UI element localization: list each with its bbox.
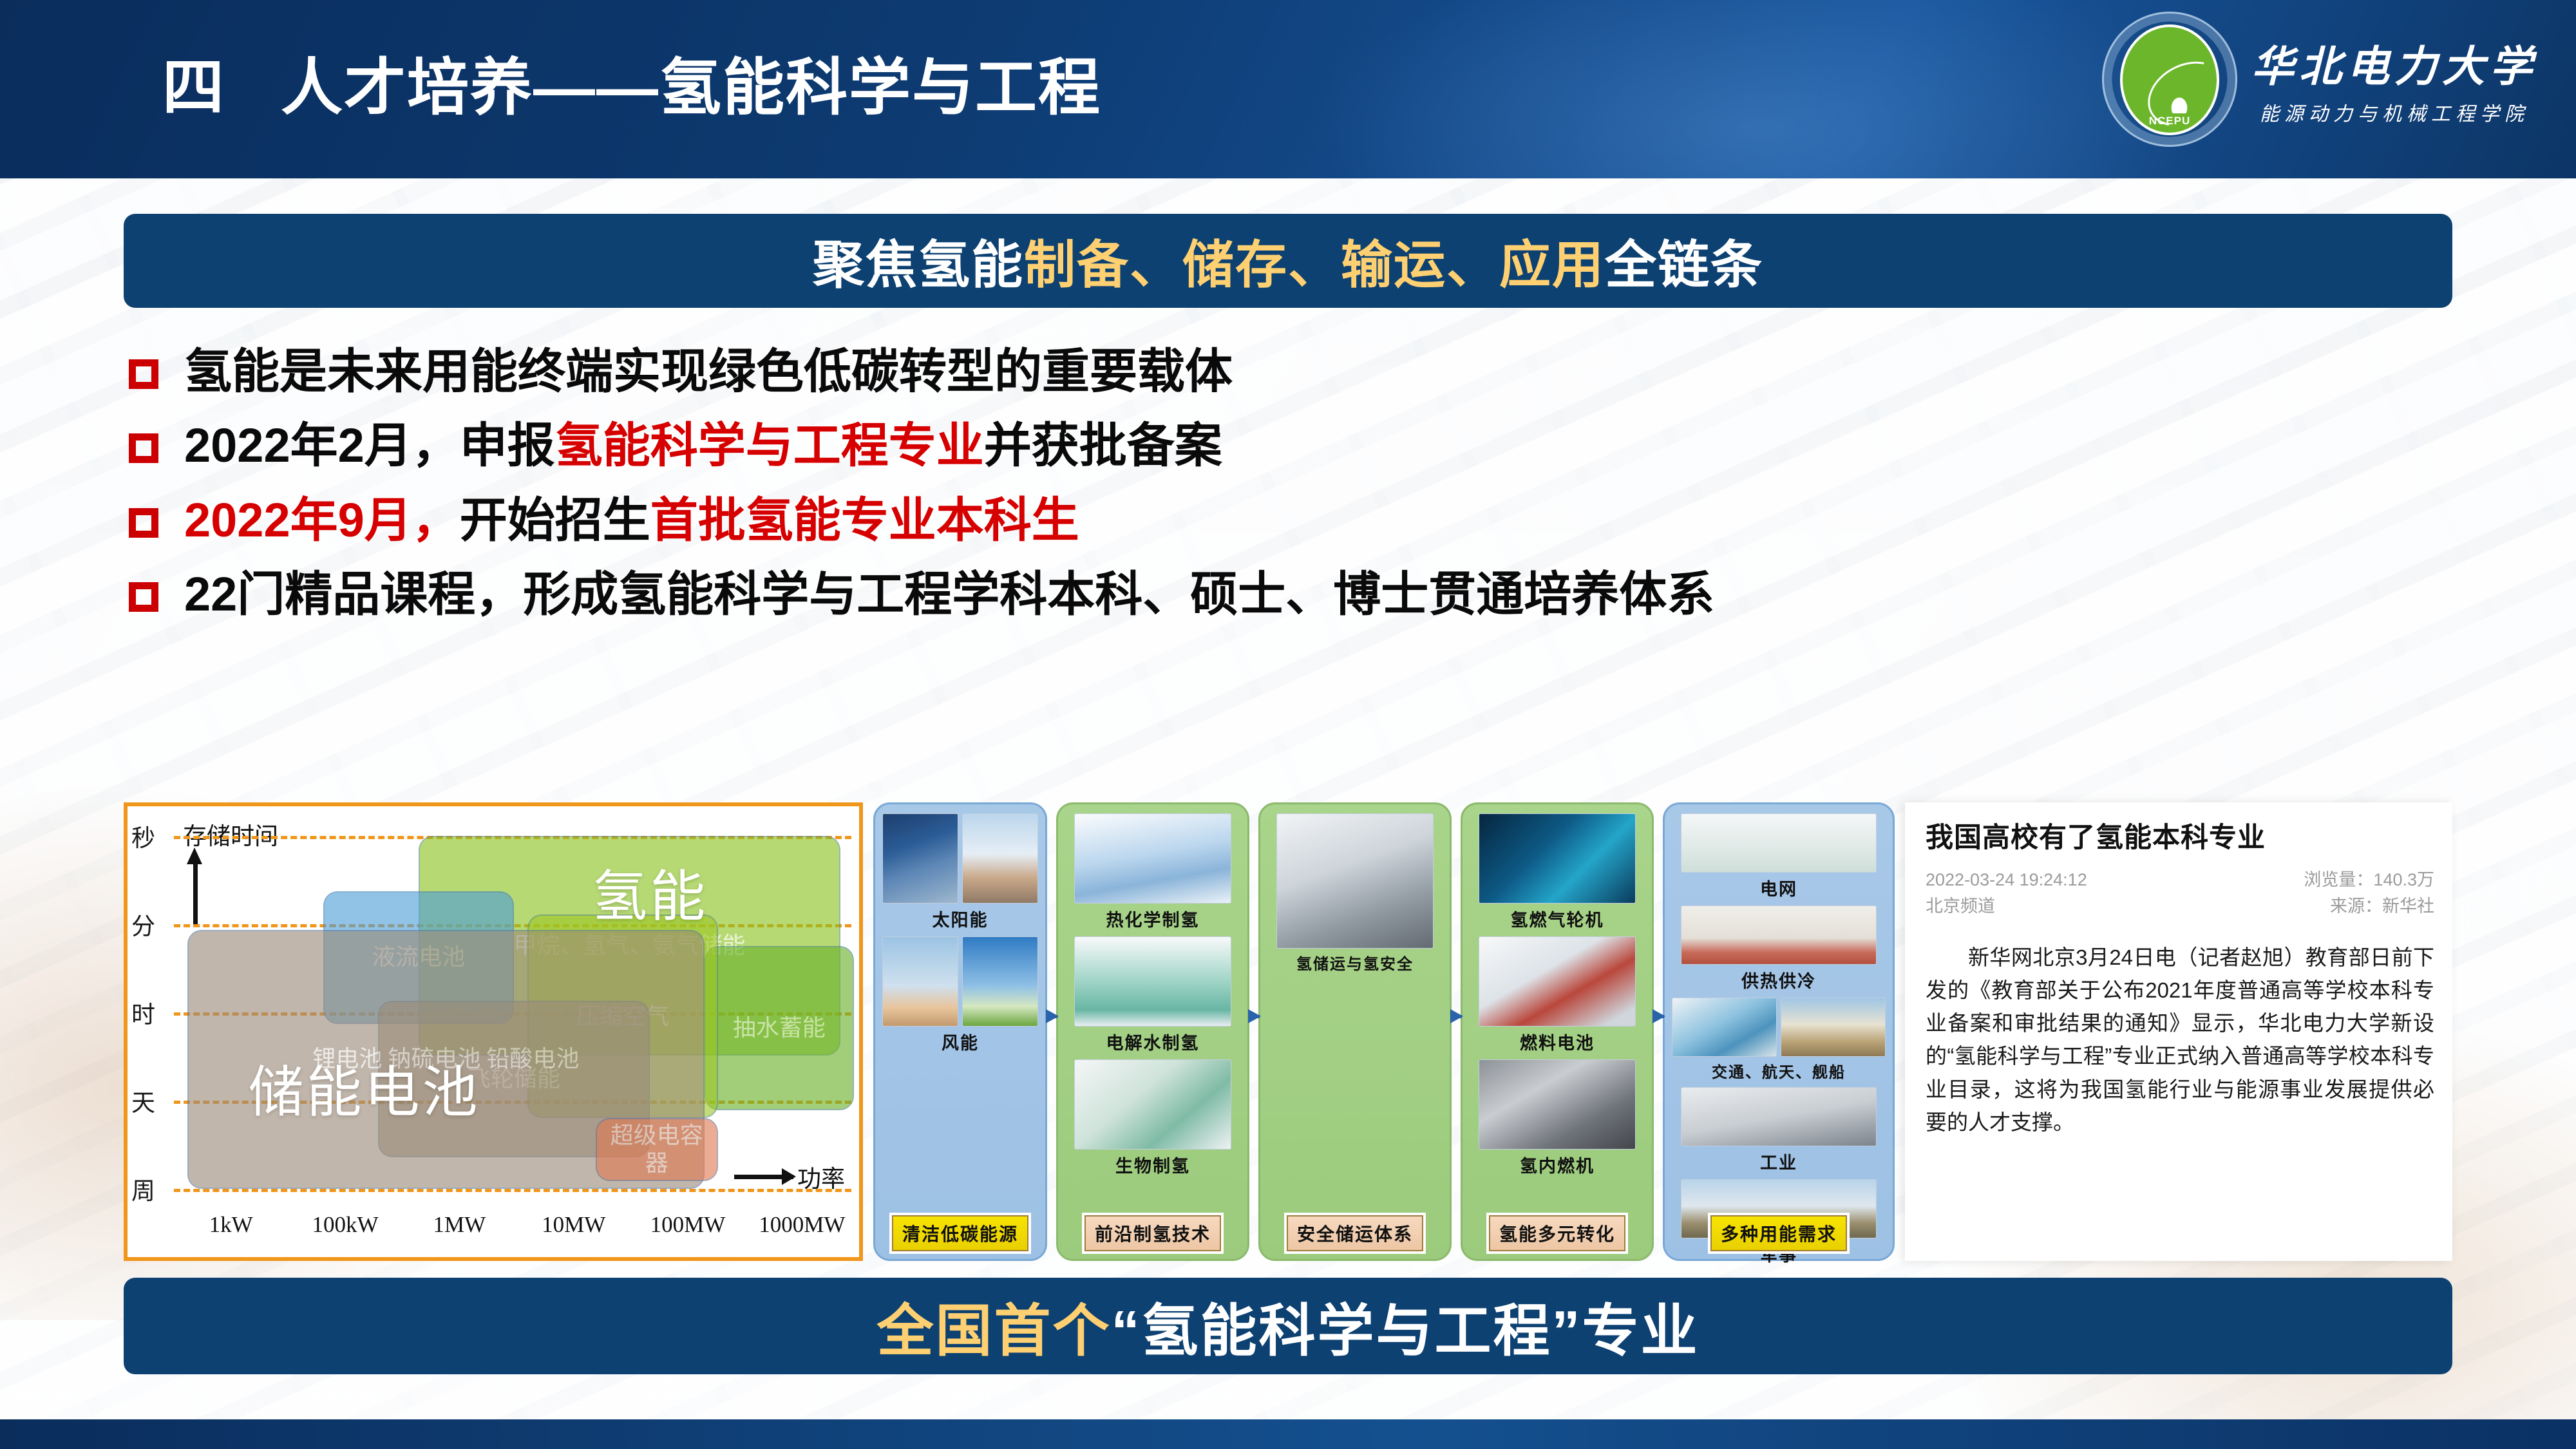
university-name: 华北电力大学 bbox=[2251, 32, 2537, 94]
electrolysis-diagram bbox=[1074, 936, 1231, 1027]
y-axis-arrow-icon bbox=[193, 862, 198, 925]
x-axis-label-group: 功率 bbox=[734, 1159, 845, 1194]
bullet-square-icon bbox=[129, 359, 158, 389]
news-body: 新华网北京3月24日电（记者赵旭）教育部日前下发的《教育部关于公布2021年度普… bbox=[1926, 941, 2434, 1139]
flow-thumb-group bbox=[1276, 813, 1434, 949]
flow-thumb-group bbox=[1681, 905, 1877, 965]
content-row: 存储时间 周天时分秒甲烷、氢气、氨气储能抽水蓄能压缩空气液流电池飞轮储能锂电池 … bbox=[124, 802, 2452, 1261]
wind-turbines-photo bbox=[962, 936, 1038, 1027]
power-tower-photo bbox=[1681, 813, 1877, 873]
news-datetime: 2022-03-24 19:24:12 bbox=[1926, 867, 2087, 893]
flow-column-tag: 前沿制氢技术 bbox=[1084, 1215, 1221, 1251]
news-source: 来源：新华社 bbox=[2304, 893, 2434, 920]
top-banner-part2: 制备、储存、输运、应用 bbox=[1024, 236, 1605, 294]
y-axis-tick-label: 时 bbox=[131, 995, 155, 1030]
bullet-segment: 氢能科学与工程专业 bbox=[555, 419, 984, 472]
bullet-item: 2022年9月，开始招生首批氢能专业本科生 bbox=[129, 494, 2460, 546]
flow-column-tag: 清洁低碳能源 bbox=[892, 1215, 1028, 1251]
news-meta-left: 2022-03-24 19:24:12 北京频道 bbox=[1926, 867, 2087, 919]
bullet-segment: 氢能是未来用能终端实现绿色低碳转型的重要载体 bbox=[184, 345, 1233, 398]
x-axis-tick-label: 1kW bbox=[209, 1212, 253, 1238]
top-banner-part1: 聚焦氢能 bbox=[813, 236, 1024, 294]
flow-column: 氢储运与氢安全安全储运体系 bbox=[1258, 802, 1452, 1261]
x-axis-tick-label: 100kW bbox=[312, 1212, 378, 1238]
top-banner-text: 聚焦氢能制备、储存、输运、应用全链条 bbox=[813, 223, 1763, 298]
ship-photo bbox=[1781, 998, 1886, 1057]
y-axis-tick-label: 分 bbox=[131, 907, 155, 942]
solar-tower-photo bbox=[962, 813, 1038, 904]
x-axis-tick-label: 1000MW bbox=[759, 1212, 845, 1238]
y-axis-tick-label: 秒 bbox=[131, 819, 155, 853]
y-axis-tick-label: 天 bbox=[131, 1083, 155, 1118]
flow-column: 氢燃气轮机燃料电池氢内燃机氢能多元转化 bbox=[1461, 802, 1654, 1261]
flow-thumb-group bbox=[1074, 813, 1231, 904]
hydrogen-car-photo bbox=[1672, 998, 1777, 1057]
slide-header: 四 人才培养——氢能科学与工程 NCEPU 华北电力大学 能源动力与机械工程学院 bbox=[0, 0, 2576, 178]
top-banner: 聚焦氢能制备、储存、输运、应用全链条 bbox=[124, 214, 2452, 308]
news-views: 浏览量：140.3万 bbox=[2304, 867, 2434, 893]
chart-region-box: 抽水蓄能 bbox=[705, 946, 854, 1110]
x-axis-tick-label: 10MW bbox=[542, 1212, 605, 1238]
top-banner-part3: 全链条 bbox=[1605, 236, 1763, 294]
ncepu-emblem-icon: NCEPU bbox=[2102, 12, 2237, 147]
emblem-acronym: NCEPU bbox=[2102, 115, 2237, 128]
flow-item-caption: 供热供冷 bbox=[1741, 967, 1816, 992]
flow-thumb-group bbox=[1074, 936, 1231, 1027]
bullet-text: 22门精品课程，形成氢能科学与工程学科本科、硕士、博士贯通培养体系 bbox=[184, 568, 1714, 620]
engine-photo bbox=[1479, 1059, 1636, 1150]
bullet-item: 22门精品课程，形成氢能科学与工程学科本科、硕士、博士贯通培养体系 bbox=[129, 568, 2460, 620]
bullet-square-icon bbox=[129, 508, 158, 538]
flow-connector-arrow-icon bbox=[1248, 1015, 1260, 1018]
x-axis-arrow-icon bbox=[734, 1175, 793, 1179]
flow-item-caption: 电解水制氢 bbox=[1106, 1029, 1200, 1054]
chart-highlight-label: 储能电池 bbox=[249, 1046, 480, 1127]
university-name-block: 华北电力大学 能源动力与机械工程学院 bbox=[2251, 32, 2537, 126]
bullet-segment: 开始招生 bbox=[460, 493, 650, 547]
flow-thumb-group bbox=[1479, 936, 1636, 1027]
news-channel: 北京频道 bbox=[1926, 893, 2087, 920]
university-logo-block: NCEPU 华北电力大学 能源动力与机械工程学院 bbox=[2102, 12, 2537, 147]
flow-item-caption: 太阳能 bbox=[933, 906, 989, 931]
bullet-segment: 22门精品课程，形成氢能科学与工程学科本科、硕士、博士贯通培养体系 bbox=[184, 567, 1714, 621]
x-axis-ticks: 1kW100kW1MW10MW100MW1000MW bbox=[174, 1212, 859, 1248]
flow-item-caption: 电网 bbox=[1760, 875, 1797, 900]
biohydrogen-diagram bbox=[1074, 1059, 1231, 1150]
flow-thumb-group bbox=[1681, 1087, 1877, 1146]
y-axis-tick-label: 周 bbox=[131, 1171, 155, 1206]
bullet-segment: 2022年9月， bbox=[184, 493, 460, 547]
news-headline: 我国高校有了氢能本科专业 bbox=[1926, 815, 2434, 855]
chart-highlight-label: 氢能 bbox=[592, 851, 708, 931]
bullet-text: 2022年2月，申报氢能科学与工程专业并获批备案 bbox=[184, 419, 1222, 471]
flow-item-caption: 氢内燃机 bbox=[1520, 1152, 1595, 1177]
flow-item-caption: 工业 bbox=[1760, 1149, 1797, 1174]
header-glow bbox=[1275, 0, 2241, 178]
bottom-banner-part1: 全国首个 bbox=[876, 1299, 1111, 1363]
gas-turbine-photo bbox=[1479, 813, 1636, 904]
storage-technology-chart: 存储时间 周天时分秒甲烷、氢气、氨气储能抽水蓄能压缩空气液流电池飞轮储能锂电池 … bbox=[124, 802, 863, 1261]
bullet-text: 2022年9月，开始招生首批氢能专业本科生 bbox=[184, 494, 1079, 546]
flow-connector-arrow-icon bbox=[1046, 1015, 1057, 1018]
news-meta-right: 浏览量：140.3万 来源：新华社 bbox=[2304, 867, 2434, 919]
page-title: 四 人才培养——氢能科学与工程 bbox=[162, 37, 1101, 127]
flow-column-tag: 安全储运体系 bbox=[1287, 1215, 1423, 1251]
bullet-segment: 2022年2月，申报 bbox=[184, 419, 555, 472]
flow-column: 太阳能风能清洁低碳能源 bbox=[873, 802, 1047, 1261]
news-clipping: 我国高校有了氢能本科专业 2022-03-24 19:24:12 北京频道 浏览… bbox=[1905, 802, 2452, 1261]
bullet-list: 氢能是未来用能终端实现绿色低碳转型的重要载体2022年2月，申报氢能科学与工程专… bbox=[129, 345, 2460, 643]
flow-column-tag: 多种用能需求 bbox=[1710, 1215, 1847, 1251]
flow-item-caption: 交通、航天、舰船 bbox=[1712, 1059, 1846, 1082]
flow-connector-arrow-icon bbox=[1653, 1015, 1664, 1018]
flow-thumb-group bbox=[1074, 1059, 1231, 1150]
chart-plot-area: 存储时间 周天时分秒甲烷、氢气、氨气储能抽水蓄能压缩空气液流电池飞轮储能锂电池 … bbox=[174, 813, 854, 1204]
flow-item-caption: 生物制氢 bbox=[1115, 1152, 1190, 1177]
bullet-item: 2022年2月，申报氢能科学与工程专业并获批备案 bbox=[129, 419, 2460, 471]
news-meta: 2022-03-24 19:24:12 北京频道 浏览量：140.3万 来源：新… bbox=[1926, 867, 2434, 919]
flow-thumb-group bbox=[1672, 998, 1886, 1057]
bullet-square-icon bbox=[129, 433, 158, 463]
chart-region-box: 超级电容器 bbox=[596, 1118, 718, 1180]
footer-strip bbox=[0, 1419, 2576, 1449]
bottom-banner-text: 全国首个“氢能科学与工程”专业 bbox=[876, 1285, 1699, 1367]
bullet-segment: 首批氢能专业本科生 bbox=[650, 493, 1079, 547]
bullet-item: 氢能是未来用能终端实现绿色低碳转型的重要载体 bbox=[129, 345, 2460, 397]
x-axis-tick-label: 1MW bbox=[433, 1212, 486, 1238]
flow-item-caption: 氢储运与氢安全 bbox=[1296, 951, 1414, 974]
flow-thumb-group bbox=[882, 813, 1038, 904]
chart-title: 存储时间 bbox=[183, 817, 278, 851]
x-axis-label: 功率 bbox=[797, 1159, 845, 1194]
flow-connector-arrow-icon bbox=[1450, 1015, 1462, 1018]
bottom-banner-part2: “氢能科学与工程”专业 bbox=[1112, 1299, 1700, 1363]
school-name: 能源动力与机械工程学院 bbox=[2260, 98, 2529, 126]
refinery-photo bbox=[1681, 1087, 1877, 1146]
flow-column: 热化学制氢电解水制氢生物制氢前沿制氢技术 bbox=[1056, 802, 1249, 1261]
solar-panel-photo bbox=[882, 813, 958, 904]
flow-thumb-group bbox=[1479, 1059, 1636, 1150]
thermochemical-diagram bbox=[1074, 813, 1231, 904]
flow-column-tag: 氢能多元转化 bbox=[1489, 1215, 1625, 1251]
flow-item-caption: 燃料电池 bbox=[1520, 1029, 1595, 1054]
bullet-segment: 并获批备案 bbox=[984, 419, 1222, 472]
bullet-square-icon bbox=[129, 582, 158, 612]
flow-column: 电网供热供冷交通、航天、舰船工业军事多种用能需求 bbox=[1663, 802, 1895, 1261]
flow-item-caption: 风能 bbox=[942, 1029, 979, 1054]
x-axis-tick-label: 100MW bbox=[650, 1212, 726, 1238]
flow-thumb-group bbox=[882, 936, 1038, 1027]
hydrogen-chain-flow-diagram: 太阳能风能清洁低碳能源热化学制氢电解水制氢生物制氢前沿制氢技术氢储运与氢安全安全… bbox=[873, 802, 1895, 1261]
wind-farm-photo bbox=[882, 936, 958, 1027]
radiator-photo bbox=[1681, 905, 1877, 965]
flow-thumb-group bbox=[1479, 813, 1636, 904]
flow-thumb-group bbox=[1681, 813, 1877, 873]
bullet-text: 氢能是未来用能终端实现绿色低碳转型的重要载体 bbox=[184, 345, 1233, 397]
bottom-banner: 全国首个“氢能科学与工程”专业 bbox=[124, 1278, 2452, 1374]
hydrogen-plant-render bbox=[1276, 813, 1434, 949]
fuel-cell-diagram bbox=[1479, 936, 1636, 1027]
flow-item-caption: 热化学制氢 bbox=[1106, 906, 1200, 931]
flow-item-caption: 氢燃气轮机 bbox=[1511, 906, 1604, 931]
